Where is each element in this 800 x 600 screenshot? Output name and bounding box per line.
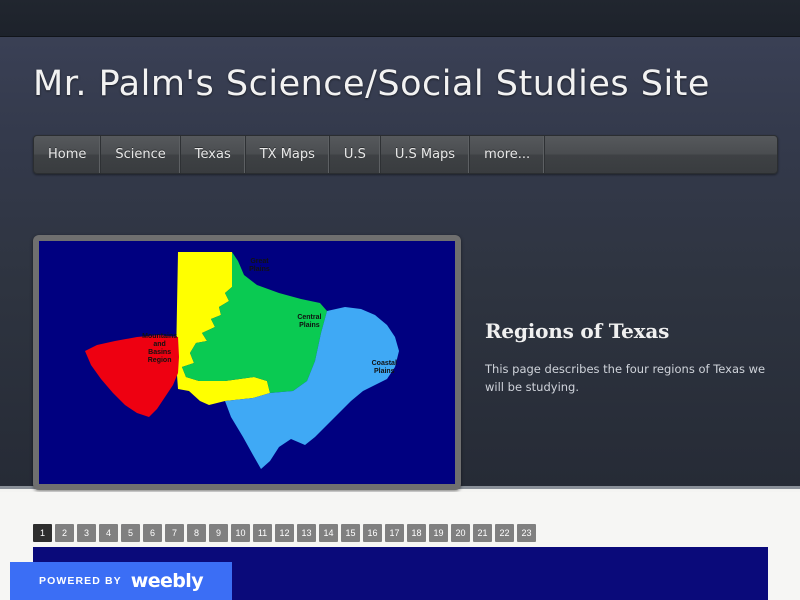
nav-filler	[545, 136, 777, 173]
nav-item-more[interactable]: more...	[470, 136, 545, 173]
texas-regions-map: Great Plains Central Plains Coastal Plai…	[39, 241, 455, 484]
region-text-block: Regions of Texas This page describes the…	[485, 319, 767, 397]
page-button-11[interactable]: 11	[253, 524, 272, 542]
page-button-13[interactable]: 13	[297, 524, 316, 542]
nav-item-science[interactable]: Science	[101, 136, 180, 173]
nav-item-us[interactable]: U.S	[330, 136, 381, 173]
page-button-15[interactable]: 15	[341, 524, 360, 542]
page-button-18[interactable]: 18	[407, 524, 426, 542]
regions-heading: Regions of Texas	[485, 319, 767, 343]
map-label-great-plains: Great Plains	[210, 258, 310, 274]
page-root: Mr. Palm's Science/Social Studies Site H…	[0, 0, 800, 600]
nav-item-texas[interactable]: Texas	[181, 136, 246, 173]
page-button-2[interactable]: 2	[55, 524, 74, 542]
main-navigation[interactable]: Home Science Texas TX Maps U.S U.S Maps …	[33, 135, 778, 174]
powered-by-label: POWERED BY	[39, 575, 122, 587]
nav-item-home[interactable]: Home	[34, 136, 101, 173]
top-bar	[0, 0, 800, 37]
map-label-mountains-basins: Mountains and Basins Region	[101, 333, 217, 364]
page-button-9[interactable]: 9	[209, 524, 228, 542]
page-button-14[interactable]: 14	[319, 524, 338, 542]
nav-item-tx-maps[interactable]: TX Maps	[246, 136, 330, 173]
nav-item-us-maps[interactable]: U.S Maps	[381, 136, 470, 173]
page-button-23[interactable]: 23	[517, 524, 536, 542]
page-button-1[interactable]: 1	[33, 524, 52, 542]
map-label-central-plains: Central Plains	[255, 314, 363, 330]
page-button-6[interactable]: 6	[143, 524, 162, 542]
page-button-12[interactable]: 12	[275, 524, 294, 542]
map-label-coastal-plains: Coastal Plains	[330, 360, 438, 376]
page-button-7[interactable]: 7	[165, 524, 184, 542]
page-button-5[interactable]: 5	[121, 524, 140, 542]
page-button-16[interactable]: 16	[363, 524, 382, 542]
powered-by-weebly-badge[interactable]: POWERED BY weebly	[10, 562, 232, 600]
page-button-17[interactable]: 17	[385, 524, 404, 542]
header-section: Mr. Palm's Science/Social Studies Site H…	[0, 37, 800, 489]
regions-description: This page describes the four regions of …	[485, 361, 767, 397]
page-button-4[interactable]: 4	[99, 524, 118, 542]
page-button-20[interactable]: 20	[451, 524, 470, 542]
pagination[interactable]: 1 2 3 4 5 6 7 8 9 10 11 12 13 14 15 16 1…	[33, 524, 536, 542]
page-title: Mr. Palm's Science/Social Studies Site	[33, 64, 710, 104]
page-button-19[interactable]: 19	[429, 524, 448, 542]
page-button-3[interactable]: 3	[77, 524, 96, 542]
page-button-8[interactable]: 8	[187, 524, 206, 542]
page-button-22[interactable]: 22	[495, 524, 514, 542]
page-button-21[interactable]: 21	[473, 524, 492, 542]
texas-regions-map-frame[interactable]: Great Plains Central Plains Coastal Plai…	[33, 235, 461, 490]
page-button-10[interactable]: 10	[231, 524, 250, 542]
weebly-logo: weebly	[131, 570, 203, 592]
